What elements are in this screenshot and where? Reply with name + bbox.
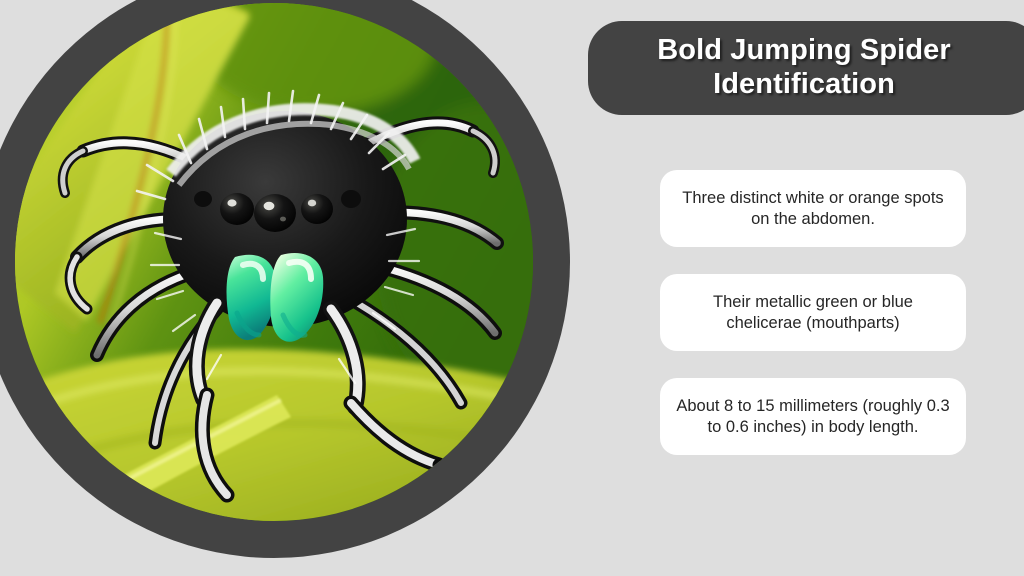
photo-medallion-ring: [0, 0, 570, 558]
infographic-canvas: Bold Jumping Spider Identification Three…: [0, 0, 1024, 576]
page-title: Bold Jumping Spider Identification: [614, 34, 994, 101]
title-banner: Bold Jumping Spider Identification: [588, 21, 1024, 115]
content-column: Bold Jumping Spider Identification Three…: [588, 0, 1024, 576]
spider-photo: [15, 3, 533, 521]
fact-card-text: Their metallic green or blue chelicerae …: [674, 292, 952, 334]
fact-card: Three distinct white or orange spots on …: [660, 170, 966, 247]
fact-card: About 8 to 15 millimeters (roughly 0.3 t…: [660, 378, 966, 455]
fact-card: Their metallic green or blue chelicerae …: [660, 274, 966, 351]
fact-card-body: About 8 to 15 millimeters (roughly 0.3 t…: [660, 378, 966, 455]
fact-card-text: About 8 to 15 millimeters (roughly 0.3 t…: [674, 396, 952, 438]
fact-card-text: Three distinct white or orange spots on …: [674, 188, 952, 230]
fact-card-list: Three distinct white or orange spots on …: [660, 143, 966, 482]
fact-card-body: Their metallic green or blue chelicerae …: [660, 274, 966, 351]
spider-photo-illustration: [15, 3, 533, 521]
fact-card-body: Three distinct white or orange spots on …: [660, 170, 966, 247]
